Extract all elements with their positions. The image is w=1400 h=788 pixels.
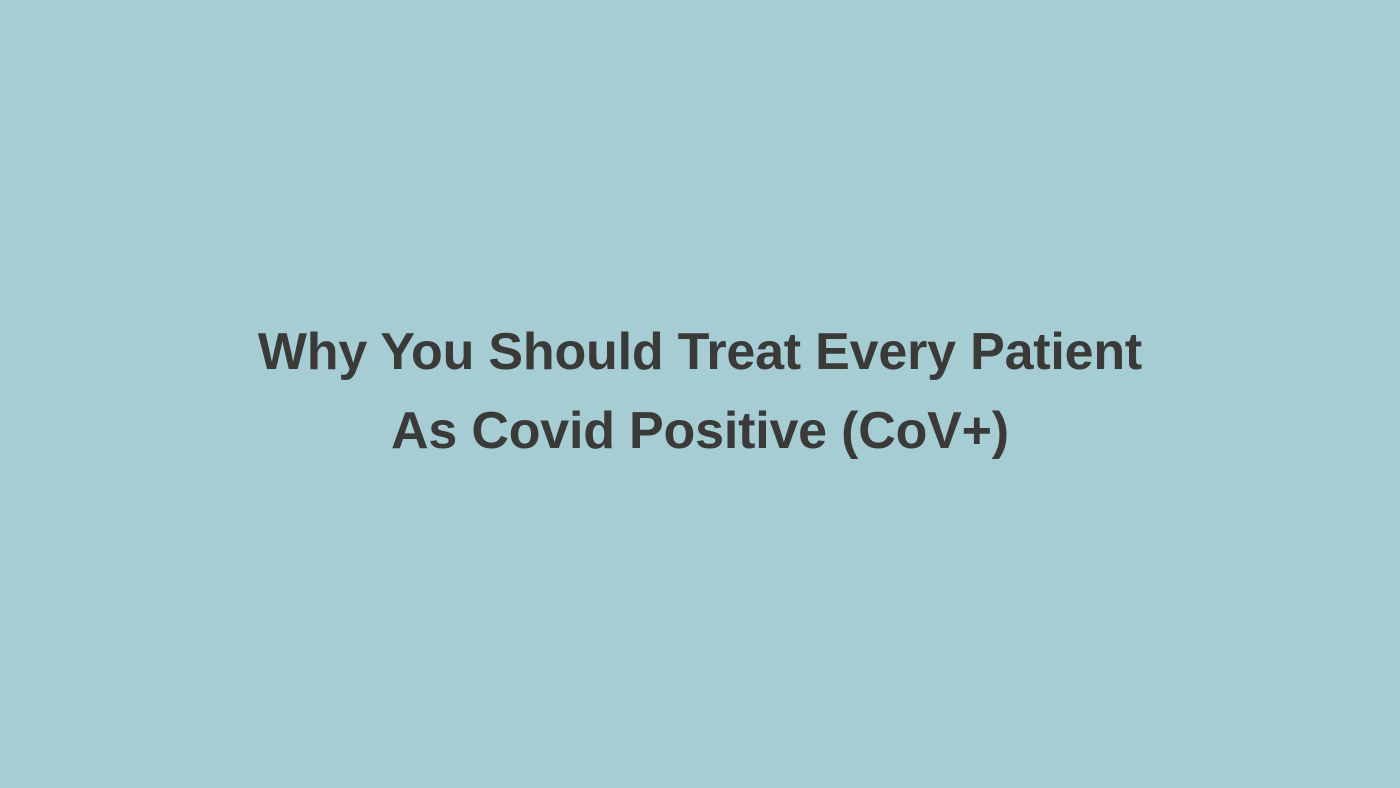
page-title: Why You Should Treat Every Patient As Co… — [140, 313, 1260, 471]
headline-line-1: Why You Should Treat Every Patient — [140, 313, 1260, 392]
slide-canvas: Why You Should Treat Every Patient As Co… — [0, 0, 1400, 788]
headline-block: Why You Should Treat Every Patient As Co… — [140, 313, 1260, 471]
headline-line-2: As Covid Positive (CoV+) — [140, 392, 1260, 471]
